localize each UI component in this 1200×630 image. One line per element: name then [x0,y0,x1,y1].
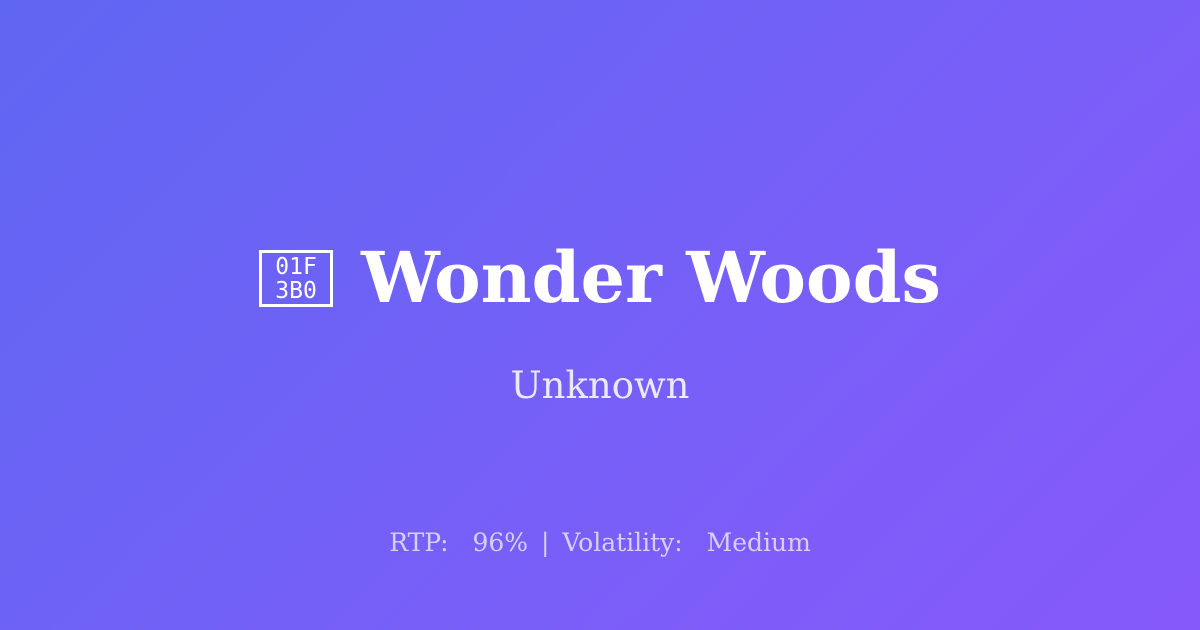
rtp-value: 96% [472,528,528,557]
game-stats-line: RTP: 96% | Volatility: Medium [0,526,1200,560]
volatility-value: Medium [707,528,811,557]
volatility-label: Volatility: [562,528,682,557]
slot-machine-emoji-icon: 01F 3B0 [259,250,333,307]
page-title: Wonder Woods [361,234,941,322]
tofu-codepoint-bottom: 3B0 [275,279,317,303]
title-row: 01F 3B0 Wonder Woods [0,232,1200,324]
rtp-label: RTP: [389,528,448,557]
tofu-codepoint-top: 01F [275,255,317,279]
provider-subtitle: Unknown [0,362,1200,410]
game-preview-card: 01F 3B0 Wonder Woods Unknown RTP: 96% | … [0,0,1200,630]
stats-separator: | [536,528,554,557]
